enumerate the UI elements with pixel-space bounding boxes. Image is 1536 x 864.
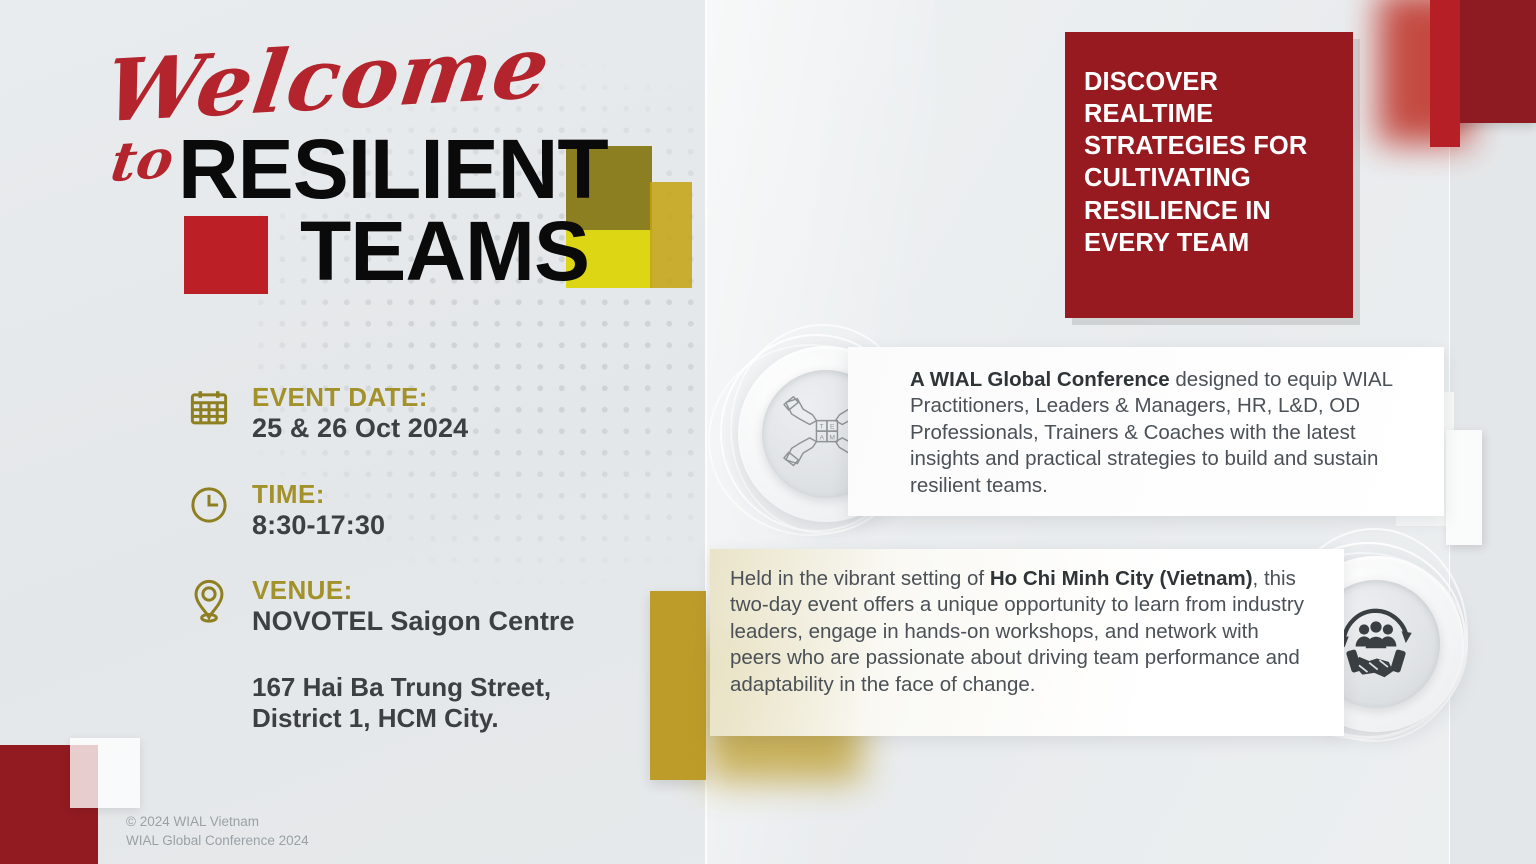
decor-white-strip-right — [1446, 430, 1482, 545]
svg-text:M: M — [829, 434, 835, 441]
detail-row-venue: VENUE: NOVOTEL Saigon Centre — [186, 575, 656, 638]
svg-text:T: T — [820, 424, 824, 431]
clock-icon — [186, 479, 232, 531]
page-title-line1: RESILIENT — [178, 128, 608, 210]
detail-text-time: TIME: 8:30-17:30 — [252, 479, 385, 542]
detail-text-event-date: EVENT DATE: 25 & 26 Oct 2024 — [252, 382, 468, 445]
detail-value-event-date: 25 & 26 Oct 2024 — [252, 412, 468, 444]
welcome-script-text: Welcome — [100, 28, 554, 132]
decor-red-bar-top-right-front — [1430, 0, 1460, 147]
event-details-list: EVENT DATE: 25 & 26 Oct 2024 TIME: 8:30-… — [186, 382, 656, 735]
location-description-prefix: Held in the vibrant setting of — [730, 567, 990, 590]
detail-label-time: TIME: — [252, 480, 385, 509]
conference-description-lead: A WIAL Global Conference — [910, 368, 1170, 391]
decor-gold-bar — [650, 591, 706, 780]
conference-description-card: A WIAL Global Conference designed to equ… — [848, 347, 1444, 516]
slide-canvas: Welcome to RESILIENT TEAMS — [0, 0, 1536, 864]
detail-value-venue: NOVOTEL Saigon Centre — [252, 605, 575, 637]
detail-row-time: TIME: 8:30-17:30 — [186, 479, 656, 542]
location-description-lead: Ho Chi Minh City (Vietnam) — [990, 567, 1253, 590]
conference-description-text: A WIAL Global Conference designed to equ… — [910, 367, 1412, 499]
svg-text:A: A — [819, 434, 824, 441]
decor-red-square-top-right-back — [1452, 0, 1536, 123]
location-description-body: Held in the vibrant setting of Ho Chi Mi… — [710, 549, 1344, 698]
detail-row-event-date: EVENT DATE: 25 & 26 Oct 2024 — [186, 382, 656, 445]
decor-gold-overlay-square — [650, 182, 692, 288]
location-pin-icon — [186, 575, 232, 627]
headline-banner-text: DISCOVER REALTIME STRATEGIES FOR CULTIVA… — [1084, 66, 1327, 259]
footer-line1: © 2024 WIAL Vietnam — [126, 812, 309, 831]
calendar-icon — [186, 382, 232, 434]
location-description-card: Held in the vibrant setting of Ho Chi Mi… — [710, 549, 1344, 736]
footer-line2: WIAL Global Conference 2024 — [126, 831, 309, 850]
venue-address-line1: 167 Hai Ba Trung Street, — [252, 672, 551, 702]
conference-description-body: A WIAL Global Conference designed to equ… — [848, 347, 1444, 499]
detail-text-venue: VENUE: NOVOTEL Saigon Centre — [252, 575, 575, 638]
page-title-line2: TEAMS — [300, 210, 589, 292]
decor-white-square-bottom-left — [70, 738, 140, 808]
svg-text:E: E — [830, 424, 835, 431]
welcome-to-text: to — [107, 126, 178, 194]
detail-label-venue: VENUE: — [252, 576, 575, 605]
footer-copyright: © 2024 WIAL Vietnam WIAL Global Conferen… — [126, 812, 309, 850]
venue-address-line2: District 1, HCM City. — [252, 703, 499, 733]
location-description-text: Held in the vibrant setting of Ho Chi Mi… — [730, 566, 1304, 698]
venue-address: 167 Hai Ba Trung Street, District 1, HCM… — [252, 672, 656, 735]
detail-label-event-date: EVENT DATE: — [252, 383, 468, 412]
detail-value-time: 8:30-17:30 — [252, 509, 385, 541]
decor-red-square-title — [184, 216, 268, 294]
headline-banner: DISCOVER REALTIME STRATEGIES FOR CULTIVA… — [1065, 32, 1353, 318]
